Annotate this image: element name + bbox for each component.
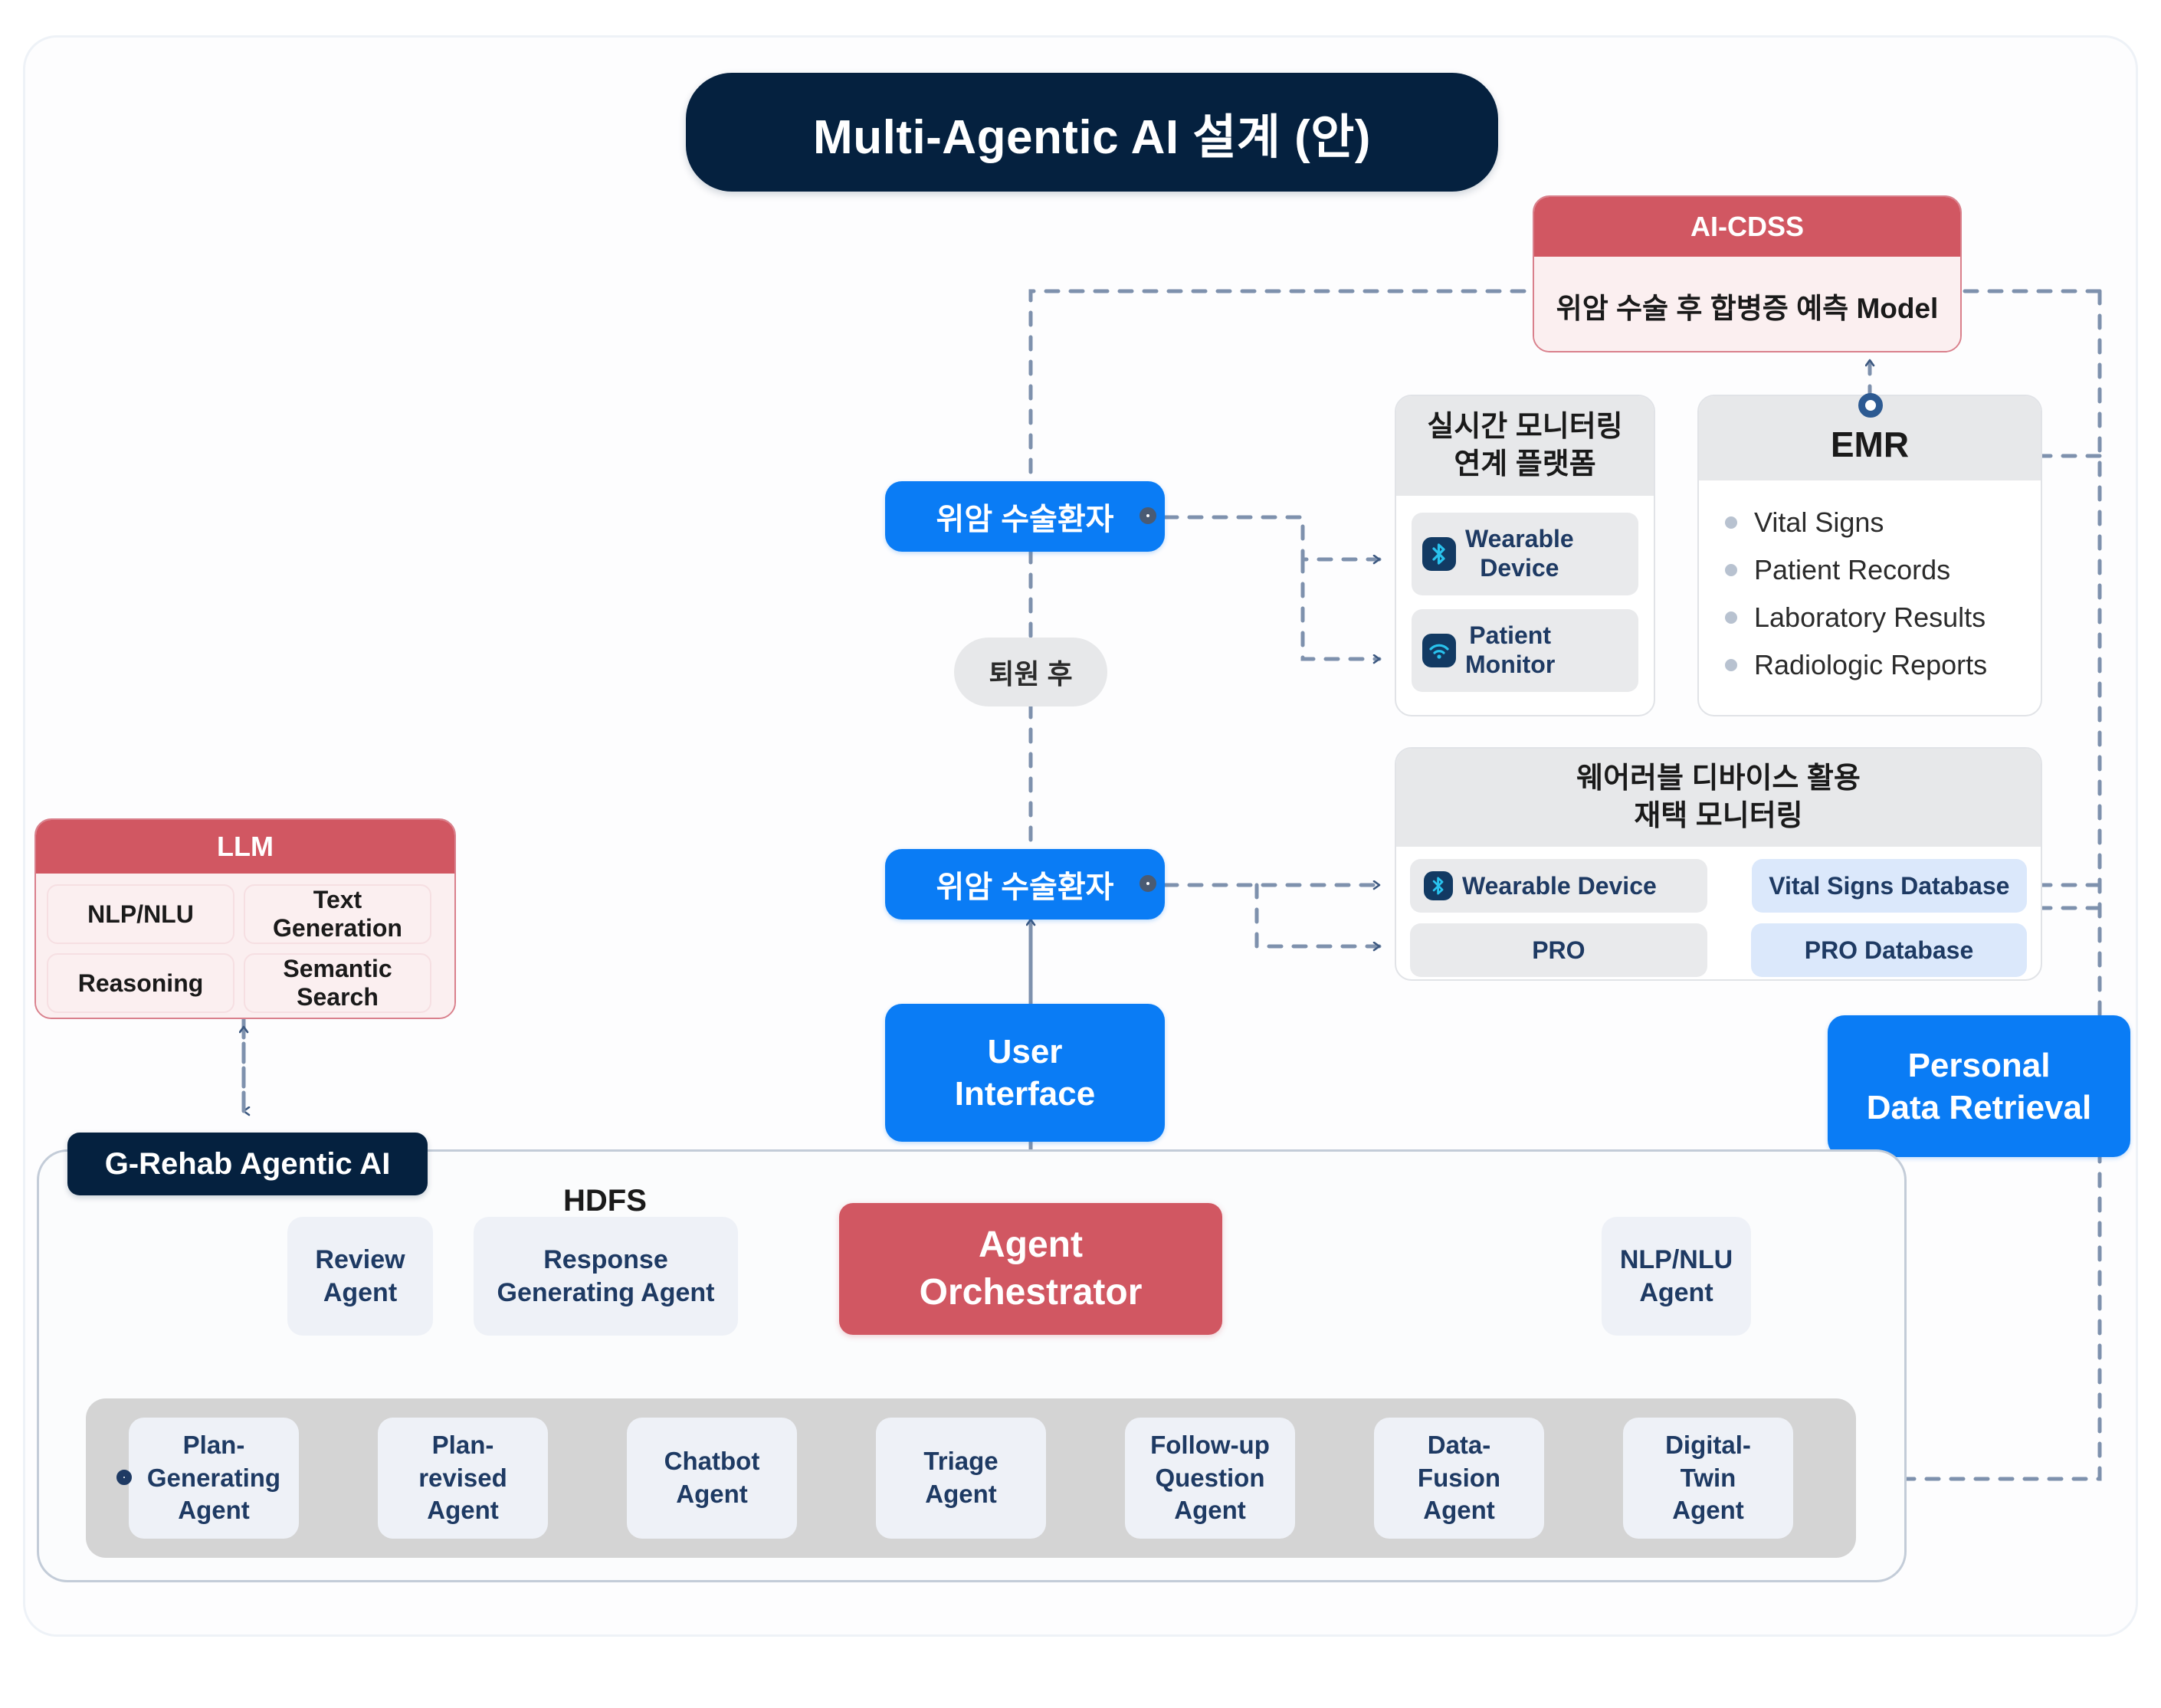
ai-cdss-card: AI-CDSS 위암 수술 후 합병증 예측 Model [1533,195,1962,352]
emr-item-label: Patient Records [1754,554,1950,586]
strip-line2: revised [418,1462,507,1495]
patient-node-top-label: 위암 수술환자 [936,494,1114,539]
strip-line2: Twin [1665,1462,1751,1495]
llm-capability-label: Text Generation [245,886,430,943]
wifi-icon [1422,634,1456,667]
pro-database-label: PRO Database [1805,936,1974,965]
emr-item-label: Radiologic Reports [1754,649,1987,681]
response-agent-line2: Generating Agent [497,1277,715,1310]
review-agent-line2: Agent [315,1277,405,1310]
home-wearable-device-label: Wearable Device [1462,871,1657,900]
wearable-device-item[interactable]: Wearable Device [1412,513,1638,595]
strip-line1: Follow-up [1150,1429,1270,1462]
strip-line3: Agent [1665,1494,1751,1527]
llm-capability-label: Semantic Search [245,955,430,1011]
llm-capability-label: Reasoning [78,969,204,998]
review-agent-line1: Review [315,1244,405,1277]
agent-orchestrator-card[interactable]: Agent Orchestrator [839,1203,1222,1335]
strip-line3: Agent [147,1494,280,1527]
ai-cdss-model-label: 위암 수술 후 합병증 예측 Model [1556,285,1939,326]
emr-list-item: Vital Signs [1725,506,2015,539]
llm-card: LLM NLP/NLU Text Generation Reasoning Se… [34,818,456,1019]
home-monitoring-body: Wearable Device Vital Signs Database PRO… [1396,847,2041,981]
chatbot-agent-card[interactable]: Chatbot Agent [627,1418,797,1539]
nlp-agent-line2: Agent [1620,1277,1733,1310]
bullet-icon [1725,611,1737,624]
strip-line1: Data- [1418,1429,1500,1462]
strip-line1: Digital- [1665,1429,1751,1462]
discharge-label-text: 퇴원 후 [989,652,1072,692]
strip-line2: Agent [923,1478,998,1511]
personal-data-retrieval-line1: Personal [1908,1044,2051,1087]
user-interface-label-line2: Interface [955,1073,1095,1115]
strip-line1: Chatbot [664,1445,760,1478]
nlp-nlu-agent-card[interactable]: NLP/NLU Agent [1602,1217,1751,1336]
plan-generating-port-icon [116,1470,132,1485]
llm-capability-text-generation[interactable]: Text Generation [244,884,431,944]
llm-capability-reasoning[interactable]: Reasoning [47,953,234,1013]
patient-node-bottom-label: 위암 수술환자 [936,862,1114,906]
llm-capability-nlp[interactable]: NLP/NLU [47,884,234,944]
agentic-label: G-Rehab Agentic AI [67,1133,428,1195]
wearable-device-label-line2: Device [1465,554,1574,583]
home-monitoring-header: 웨어러블 디바이스 활용 재택 모니터링 [1396,749,2041,847]
discharge-label: 퇴원 후 [954,638,1107,706]
orchestrator-line2: Orchestrator [920,1269,1143,1316]
llm-body: NLP/NLU Text Generation Reasoning Semant… [36,874,454,1019]
llm-header-label: LLM [217,829,274,865]
agentic-label-text: G-Rehab Agentic AI [105,1147,391,1182]
patient-monitor-label-line1: Patient [1465,621,1555,651]
strip-line2: Fusion [1418,1462,1500,1495]
realtime-monitoring-header: 실시간 모니터링 연계 플랫폼 [1396,396,1654,496]
ai-cdss-header-label: AI-CDSS [1690,209,1804,245]
patient-top-port-icon [1140,507,1156,524]
emr-item-label: Laboratory Results [1754,602,1986,634]
llm-capability-semantic-search[interactable]: Semantic Search [244,953,431,1013]
strip-line1: Triage [923,1445,998,1478]
home-wearable-device[interactable]: Wearable Device [1410,859,1707,913]
vital-signs-database[interactable]: Vital Signs Database [1752,859,2027,913]
bluetooth-icon [1422,537,1456,571]
plan-revised-agent-card[interactable]: Plan- revised Agent [378,1418,548,1539]
review-agent-card[interactable]: Review Agent [287,1217,433,1336]
realtime-monitoring-card: 실시간 모니터링 연계 플랫폼 Wearable Device [1395,395,1655,716]
strip-line1: Plan- [147,1429,280,1462]
plan-generating-agent-card[interactable]: Plan- Generating Agent [129,1418,299,1539]
page-title: Multi-Agentic AI 설계 (안) [686,73,1498,192]
realtime-monitoring-body: Wearable Device Patient Monitor [1396,496,1654,709]
home-monitoring-card: 웨어러블 디바이스 활용 재택 모니터링 Wearable Device Vit… [1395,747,2042,981]
bullet-icon [1725,564,1737,576]
strip-line2: Question [1150,1462,1270,1495]
nlp-agent-line1: NLP/NLU [1620,1244,1733,1277]
patient-bottom-port-icon [1140,875,1156,892]
strip-line2: Generating [147,1462,280,1495]
strip-line1: Plan- [418,1429,507,1462]
orchestrator-line1: Agent [920,1221,1143,1269]
emr-list-item: Radiologic Reports [1725,649,2015,681]
emr-item-label: Vital Signs [1754,506,1884,539]
pro-database[interactable]: PRO Database [1751,923,2027,977]
emr-card: EMR Vital Signs Patient Records Laborato… [1697,395,2042,716]
user-interface-node[interactable]: User Interface [885,1004,1165,1142]
diagram-canvas: Multi-Agentic AI 설계 (안) AI-CDSS 위암 수술 후 … [0,0,2161,1708]
response-agent-line1: Response [497,1244,715,1277]
strip-line3: Agent [1150,1494,1270,1527]
emr-header-label: EMR [1831,422,1909,468]
strip-line3: Agent [418,1494,507,1527]
followup-question-agent-card[interactable]: Follow-up Question Agent [1125,1418,1295,1539]
bluetooth-icon [1424,871,1453,900]
personal-data-retrieval-line2: Data Retrieval [1867,1087,2091,1129]
pro-label: PRO [1532,936,1585,965]
bullet-icon [1725,659,1737,671]
strip-line2: Agent [664,1478,760,1511]
user-interface-label-line1: User [988,1031,1063,1073]
emr-list-item: Laboratory Results [1725,602,2015,634]
patient-monitor-item[interactable]: Patient Monitor [1412,609,1638,692]
patient-node-top[interactable]: 위암 수술환자 [885,481,1165,552]
data-fusion-agent-card[interactable]: Data- Fusion Agent [1374,1418,1544,1539]
ai-cdss-body: 위암 수술 후 합병증 예측 Model [1534,257,1960,352]
patient-node-bottom[interactable]: 위암 수술환자 [885,849,1165,920]
hdfs-label-text: HDFS [563,1184,647,1218]
realtime-monitoring-header-line2: 연계 플랫폼 [1454,446,1595,484]
digital-twin-agent-card[interactable]: Digital- Twin Agent [1623,1418,1793,1539]
emr-body: Vital Signs Patient Records Laboratory R… [1699,480,2041,707]
patient-monitor-label-line2: Monitor [1465,651,1555,680]
pro-item[interactable]: PRO [1410,923,1707,977]
response-generating-agent-card[interactable]: Response Generating Agent [474,1217,738,1336]
ai-cdss-header: AI-CDSS [1534,197,1960,257]
emr-list-item: Patient Records [1725,554,2015,586]
realtime-monitoring-header-line1: 실시간 모니터링 [1427,408,1622,446]
triage-agent-card[interactable]: Triage Agent [876,1418,1046,1539]
home-monitoring-header-line1: 웨어러블 디바이스 활용 [1576,760,1861,798]
hdfs-label: HDFS [563,1184,647,1218]
llm-header: LLM [36,820,454,874]
vital-signs-database-label: Vital Signs Database [1769,871,2009,900]
home-monitoring-header-line2: 재택 모니터링 [1634,798,1802,835]
personal-data-retrieval-node[interactable]: Personal Data Retrieval [1828,1015,2130,1157]
wearable-device-label-line1: Wearable [1465,525,1574,554]
strip-line3: Agent [1418,1494,1500,1527]
emr-top-port-icon [1858,393,1883,418]
bullet-icon [1725,516,1737,529]
llm-capability-label: NLP/NLU [87,900,194,929]
